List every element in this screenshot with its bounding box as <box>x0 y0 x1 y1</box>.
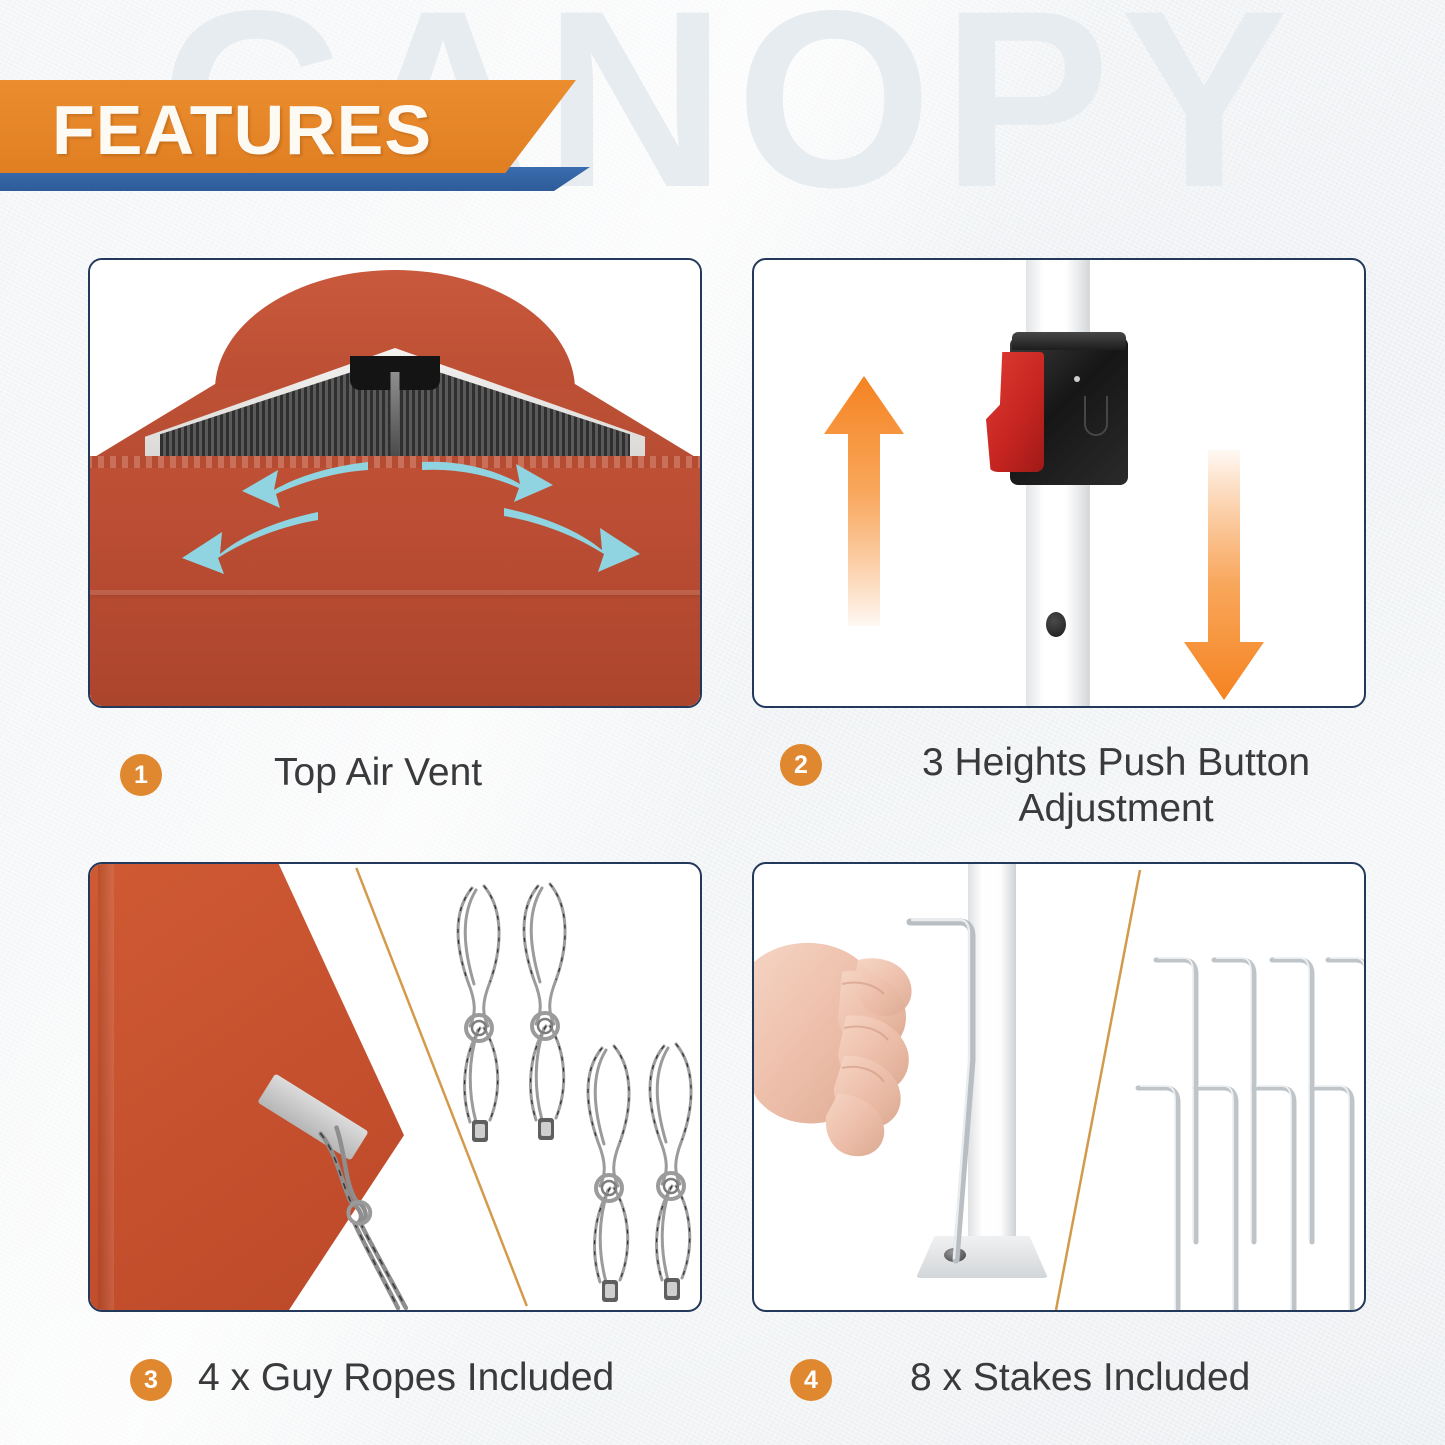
feature-badge-1: 1 <box>120 754 162 796</box>
stake-6 <box>1190 1078 1246 1312</box>
caption-top-air-vent: 1 Top Air Vent <box>120 750 700 796</box>
coiled-guy-rope-1 <box>446 878 516 1148</box>
airflow-arrow-upper-left <box>240 456 370 510</box>
canopy-body-fabric <box>88 456 702 708</box>
caption-label-2-line2: Adjustment <box>866 786 1366 832</box>
canopy-corner-fabric <box>88 862 404 1312</box>
airflow-arrow-lower-left <box>180 508 320 576</box>
coiled-guy-rope-4 <box>638 1036 702 1306</box>
feature-badge-3: 3 <box>130 1359 172 1401</box>
caption-label-1: Top Air Vent <box>274 750 482 796</box>
height-down-arrow-icon <box>1182 450 1266 705</box>
caption-label-3: 4 x Guy Ropes Included <box>198 1355 614 1401</box>
vent-center-strap <box>391 372 400 458</box>
coiled-guy-rope-3 <box>576 1038 646 1308</box>
stake-8 <box>1306 1078 1362 1312</box>
feature-panel-push-button-adjustment <box>752 258 1366 708</box>
feature-badge-4: 4 <box>790 1359 832 1401</box>
feature-panel-stakes <box>752 862 1366 1312</box>
stake-5 <box>1132 1078 1188 1312</box>
airflow-arrow-lower-right <box>502 504 642 574</box>
pole-adjustment-hole <box>1046 612 1066 637</box>
red-push-button <box>986 352 1044 472</box>
feature-panel-top-air-vent <box>88 258 702 708</box>
caption-stakes: 4 8 x Stakes Included <box>790 1355 1370 1401</box>
caption-label-2-line1: 3 Heights Push Button <box>866 740 1366 786</box>
feature-panel-guy-ropes <box>88 862 702 1312</box>
header-banner: FEATURES <box>0 0 800 200</box>
push-button-housing-top <box>1012 332 1126 350</box>
coiled-guy-rope-2 <box>512 876 582 1146</box>
airflow-arrow-upper-right <box>420 448 555 504</box>
caption-label-4: 8 x Stakes Included <box>910 1355 1250 1401</box>
height-up-arrow-icon <box>822 376 906 631</box>
canopy-fabric-hem <box>98 862 114 1312</box>
canopy-lower-seam <box>88 590 702 595</box>
stake-in-hand <box>894 910 1024 1270</box>
caption-guy-ropes: 3 4 x Guy Ropes Included <box>130 1355 710 1401</box>
feature-badge-2: 2 <box>780 744 822 786</box>
caption-label-2: 3 Heights Push Button Adjustment <box>866 740 1366 831</box>
page-title: FEATURES <box>52 90 432 170</box>
canopy-vent-illustration <box>90 260 700 706</box>
infographic-page: CANOPY FEATURES <box>0 0 1445 1445</box>
caption-push-button-adjustment: 2 3 Heights Push Button Adjustment <box>780 740 1380 831</box>
housing-pin-dot <box>1074 376 1080 382</box>
stake-7 <box>1248 1078 1304 1312</box>
housing-slot <box>1084 396 1108 436</box>
canopy-upper-seam <box>88 456 702 468</box>
